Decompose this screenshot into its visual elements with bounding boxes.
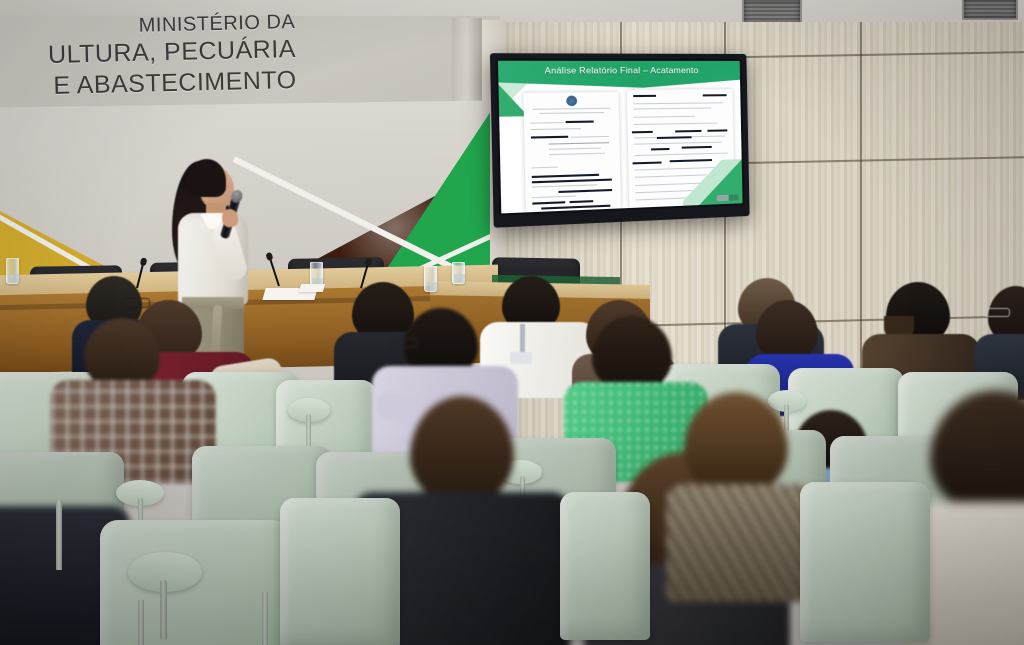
seat-leg <box>262 592 268 645</box>
slide-document-left <box>523 92 621 212</box>
presentation-screen[interactable]: Análise Relatório Final – Acatamento <box>490 53 750 228</box>
seat-post <box>160 580 167 640</box>
auditorium-seat <box>800 482 930 642</box>
tv-bezel: Análise Relatório Final – Acatamento <box>496 59 745 216</box>
slide-logo <box>717 194 739 201</box>
auditorium-seat <box>560 492 650 640</box>
ministry-wall-signage: MINISTÉRIO DA ULTURA, PECUÁRIA E ABASTEC… <box>0 10 297 103</box>
seat-leg <box>138 600 144 645</box>
auditorium-presentation-photo: MINISTÉRIO DA ULTURA, PECUÁRIA E ABASTEC… <box>0 0 1024 645</box>
slide: Análise Relatório Final – Acatamento <box>498 61 743 214</box>
crest-icon <box>566 96 577 107</box>
audience-member <box>662 392 812 582</box>
ceiling-vent-icon <box>962 0 1018 20</box>
slide-title: Análise Relatório Final – Acatamento <box>498 65 740 76</box>
water-glass <box>6 258 19 284</box>
auditorium-seat <box>280 498 400 645</box>
water-glass <box>452 262 465 284</box>
audience-member <box>50 318 200 468</box>
paper-sheet <box>299 284 325 292</box>
audience-member <box>930 390 1024 645</box>
seat-leg <box>56 500 62 570</box>
